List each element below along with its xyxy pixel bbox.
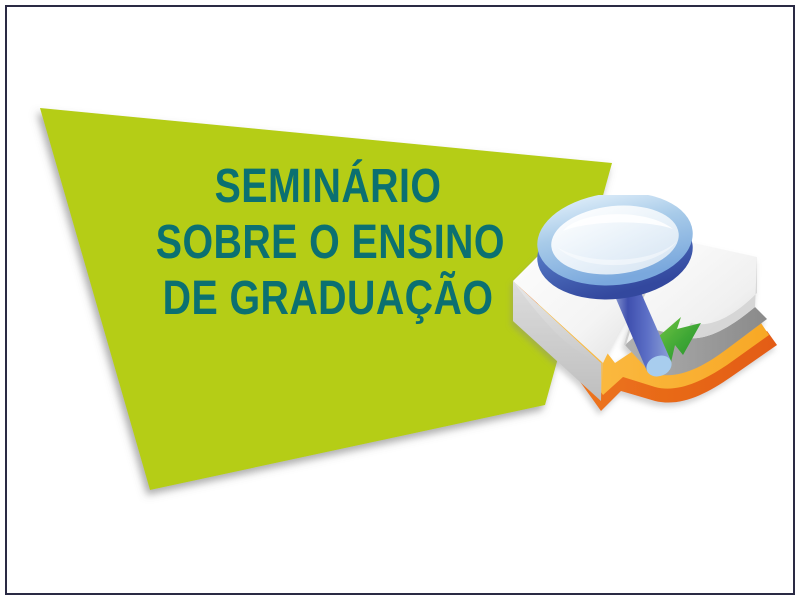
open-book-with-magnifier-illustration bbox=[505, 195, 795, 435]
banner-canvas: SEMINÁRIO SOBRE O ENSINO DE GRADUAÇÃO bbox=[0, 0, 800, 600]
